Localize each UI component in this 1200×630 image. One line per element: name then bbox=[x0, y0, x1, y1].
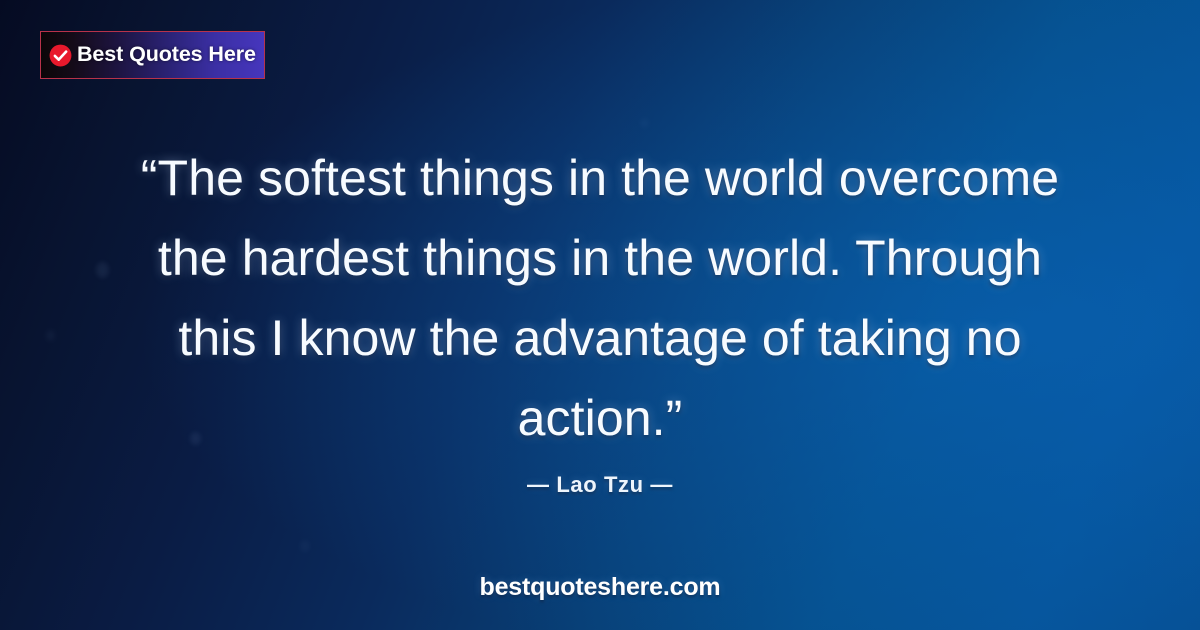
background-speck bbox=[640, 118, 649, 128]
brand-badge-label: Best Quotes Here bbox=[77, 44, 256, 66]
site-url-footer: bestquoteshere.com bbox=[0, 573, 1200, 602]
quote-line: this I know the advantage of taking no bbox=[60, 298, 1140, 378]
quote-text: “The softest things in the world overcom… bbox=[0, 138, 1200, 458]
background-speck bbox=[300, 540, 310, 552]
quote-line: the hardest things in the world. Through bbox=[60, 218, 1140, 298]
quote-line: action.” bbox=[60, 378, 1140, 458]
verified-check-icon bbox=[48, 43, 73, 68]
quote-attribution: — Lao Tzu — bbox=[0, 472, 1200, 498]
brand-badge[interactable]: Best Quotes Here bbox=[40, 31, 265, 79]
quote-line: “The softest things in the world overcom… bbox=[60, 138, 1140, 218]
quote-card: Best Quotes Here “The softest things in … bbox=[0, 0, 1200, 630]
